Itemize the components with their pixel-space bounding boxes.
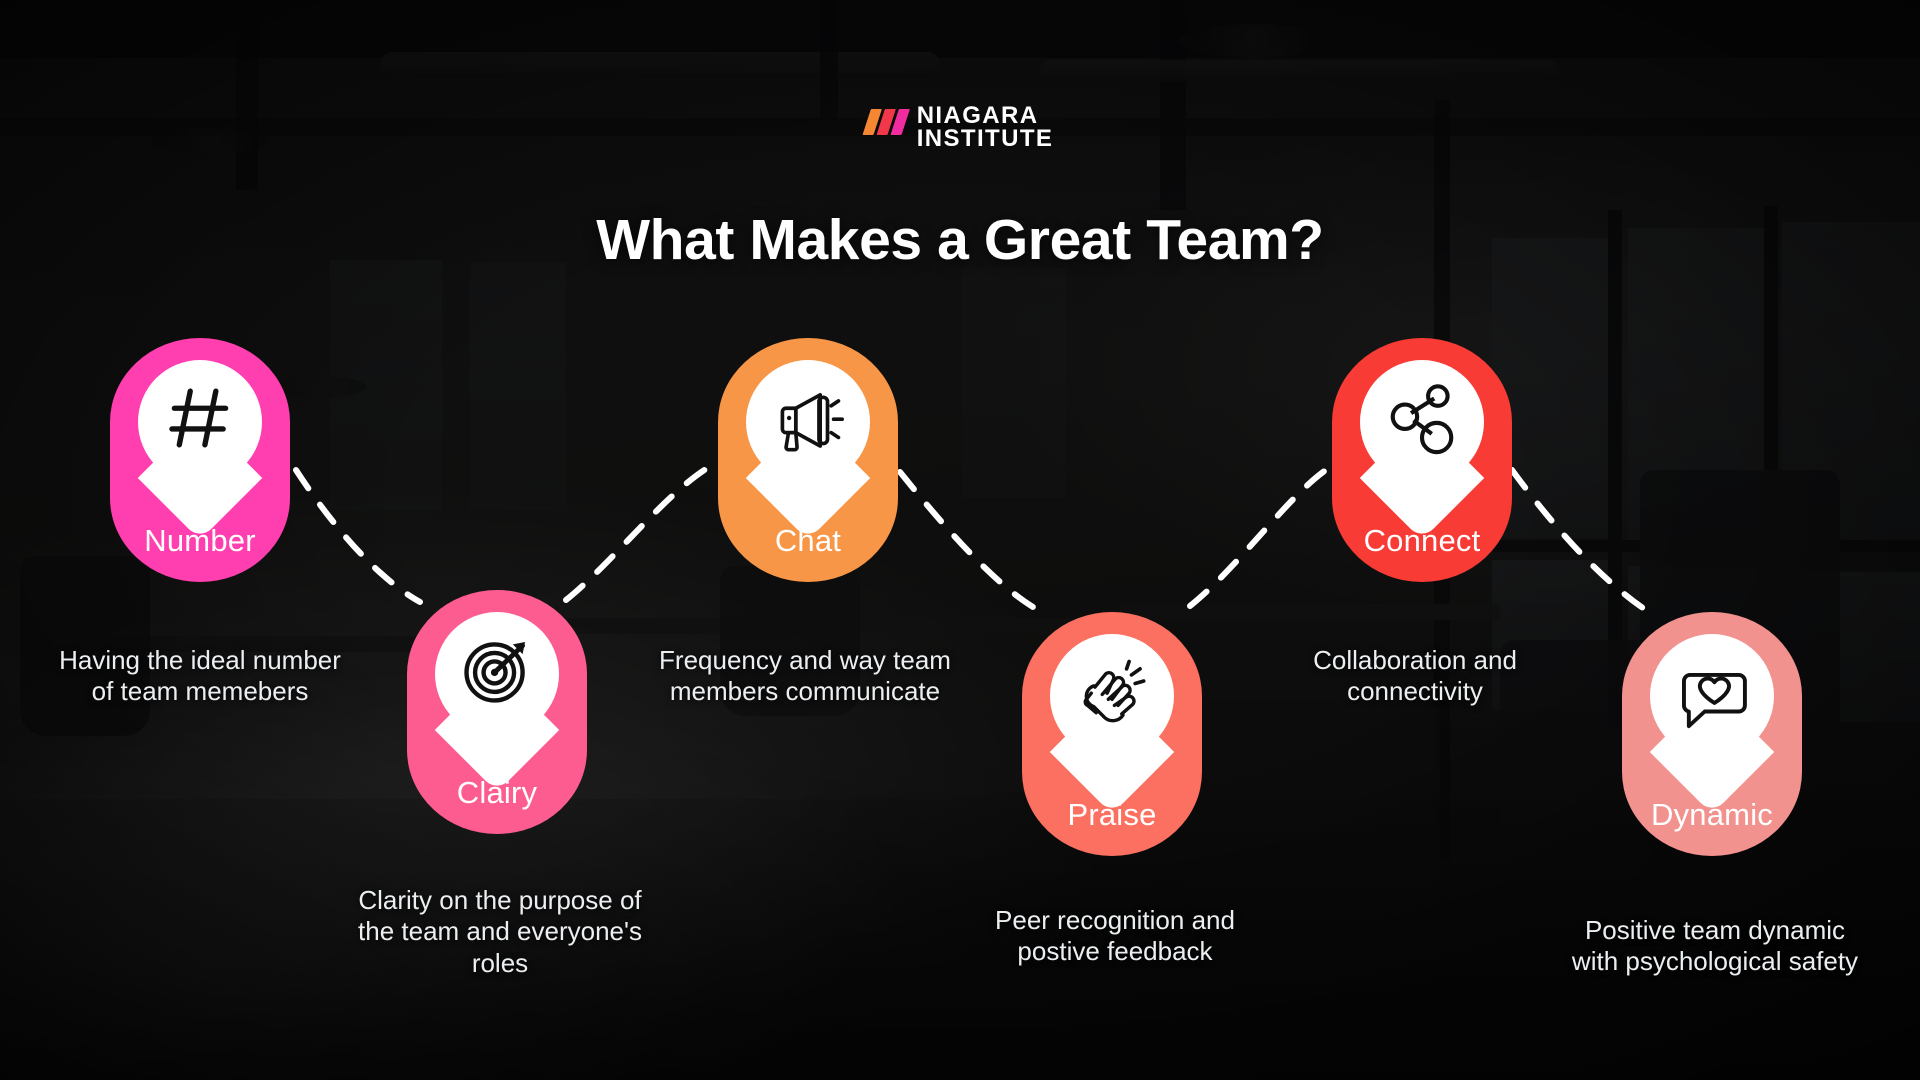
card-pill-connect[interactable]: Connect xyxy=(1332,338,1512,582)
map-pin-shape xyxy=(1050,634,1174,786)
card-description-dynamic: Positive team dynamic with psychological… xyxy=(1525,915,1905,978)
card-label-connect: Connect xyxy=(1332,523,1512,559)
page-title: What Makes a Great Team? xyxy=(0,207,1920,273)
card-label-clarity: Clairy xyxy=(407,775,587,811)
logo-wordmark: NIAGARA INSTITUTE xyxy=(917,104,1054,151)
logo-bars-icon xyxy=(867,109,906,135)
card-label-dynamic: Dynamic xyxy=(1622,797,1802,833)
brand-logo[interactable]: NIAGARA INSTITUTE xyxy=(867,104,1054,151)
card-pill-chat[interactable]: Chat xyxy=(718,338,898,582)
map-pin-shape xyxy=(138,360,262,512)
map-pin-shape xyxy=(746,360,870,512)
card-dynamic[interactable]: Dynamic xyxy=(1622,612,1802,856)
target-arrow-icon xyxy=(458,631,536,709)
clapping-hands-icon xyxy=(1073,653,1151,731)
megaphone-icon xyxy=(769,379,847,457)
card-description-number: Having the ideal number of team memebers xyxy=(15,645,385,708)
chat-heart-icon xyxy=(1673,653,1751,731)
logo-line-1: NIAGARA xyxy=(917,104,1054,127)
map-pin-shape xyxy=(435,612,559,764)
card-description-clarity: Clarity on the purpose of the team and e… xyxy=(300,885,700,979)
card-pill-dynamic[interactable]: Dynamic xyxy=(1622,612,1802,856)
card-pill-praise[interactable]: Praise xyxy=(1022,612,1202,856)
card-chat[interactable]: Chat xyxy=(718,338,898,582)
logo-line-2: INSTITUTE xyxy=(917,127,1054,150)
card-label-number: Number xyxy=(110,523,290,559)
map-pin-shape xyxy=(1360,360,1484,512)
card-label-praise: Praise xyxy=(1022,797,1202,833)
card-label-chat: Chat xyxy=(718,523,898,559)
map-pin-shape xyxy=(1650,634,1774,786)
card-praise[interactable]: Praise xyxy=(1022,612,1202,856)
card-description-praise: Peer recognition and postive feedback xyxy=(930,905,1300,968)
card-clarity[interactable]: Clairy xyxy=(407,590,587,834)
hashtag-icon xyxy=(161,379,239,457)
network-share-icon xyxy=(1383,379,1461,457)
card-pill-clarity[interactable]: Clairy xyxy=(407,590,587,834)
card-description-chat: Frequency and way team members communica… xyxy=(620,645,990,708)
card-pill-number[interactable]: Number xyxy=(110,338,290,582)
card-connect[interactable]: Connect xyxy=(1332,338,1512,582)
card-description-connect: Collaboration and connectivity xyxy=(1255,645,1575,708)
card-number[interactable]: Number xyxy=(110,338,290,582)
